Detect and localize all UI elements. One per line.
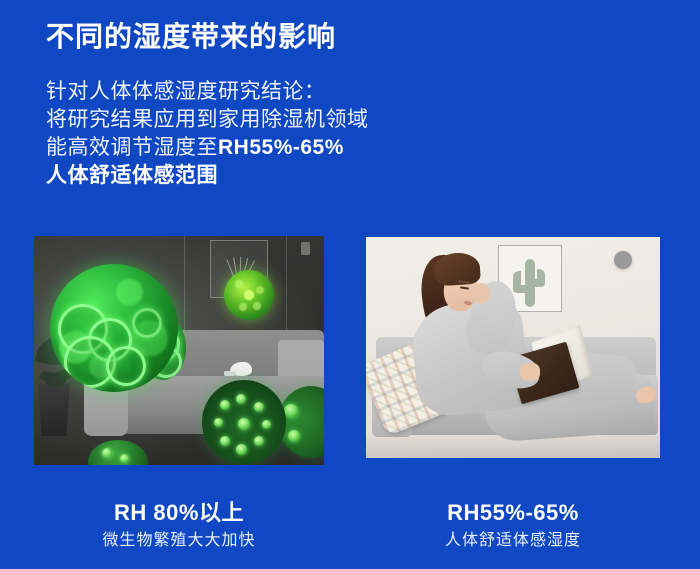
microbe-dot xyxy=(254,436,264,446)
copy-line-2: 将研究结果应用到家用除湿机领域 xyxy=(46,106,496,134)
copy-line-3-prefix: 能高效调节湿度至 xyxy=(46,136,218,159)
intro-copy-block: 针对人体体感湿度研究结论： 将研究结果应用到家用除湿机领域 能高效调节湿度至RH… xyxy=(46,78,496,190)
sofa-cushion xyxy=(278,340,324,380)
caption-title: RH55%-65% xyxy=(366,498,660,528)
microbe-dot xyxy=(236,394,246,404)
bird-ornament xyxy=(230,362,252,376)
wall-switch-icon xyxy=(301,242,310,255)
microbe-dot xyxy=(214,418,223,427)
microbe-ring xyxy=(132,308,162,338)
microbe-dot xyxy=(102,448,112,458)
caption-comfort-humidity: RH55%-65% 人体舒适体感湿度 xyxy=(366,498,660,554)
microbe-ring xyxy=(106,346,146,386)
caption-subtitle: 人体舒适体感湿度 xyxy=(366,528,660,554)
microbe-sphere-dark xyxy=(202,380,286,464)
humidity-range-highlight: RH55%-65% xyxy=(218,136,344,159)
hand-holding-book xyxy=(520,363,540,381)
microbe-sphere-large xyxy=(50,264,178,392)
panel-comfort-humidity-image xyxy=(366,237,660,458)
microbe-dot xyxy=(236,444,247,455)
microbe-dot xyxy=(284,404,298,418)
microbe-texture xyxy=(224,270,274,320)
microbe-sphere-small xyxy=(224,270,274,320)
microbe-dot xyxy=(254,402,264,412)
panel-high-humidity-image xyxy=(34,236,324,465)
caption-high-humidity: RH 80%以上 微生物繁殖大大加快 xyxy=(34,498,324,554)
caption-title: RH 80%以上 xyxy=(34,498,324,528)
copy-line-1: 针对人体体感湿度研究结论： xyxy=(46,78,496,106)
panel-captions: RH 80%以上 微生物繁殖大大加快 RH55%-65% 人体舒适体感湿度 xyxy=(0,498,700,569)
page-title: 不同的湿度带来的影响 xyxy=(46,18,336,56)
room-scene-bright xyxy=(366,237,660,458)
person-reading xyxy=(366,237,660,458)
microbe-dot xyxy=(288,430,300,442)
caption-subtitle: 微生物繁殖大大加快 xyxy=(34,528,324,554)
microbe-dot xyxy=(220,436,230,446)
microbe-dot xyxy=(262,420,271,429)
copy-line-4: 人体舒适体感范围 xyxy=(46,162,496,190)
microbe-dot xyxy=(120,454,129,463)
room-scene-dark xyxy=(34,236,324,465)
microbe-dot xyxy=(220,400,230,410)
copy-line-3: 能高效调节湿度至RH55%-65% xyxy=(46,134,496,162)
humidity-comparison-poster: 不同的湿度带来的影响 针对人体体感湿度研究结论： 将研究结果应用到家用除湿机领域… xyxy=(0,0,700,569)
microbe-dot xyxy=(238,418,250,430)
comparison-panels xyxy=(0,236,700,466)
floor-shadow xyxy=(366,432,660,458)
